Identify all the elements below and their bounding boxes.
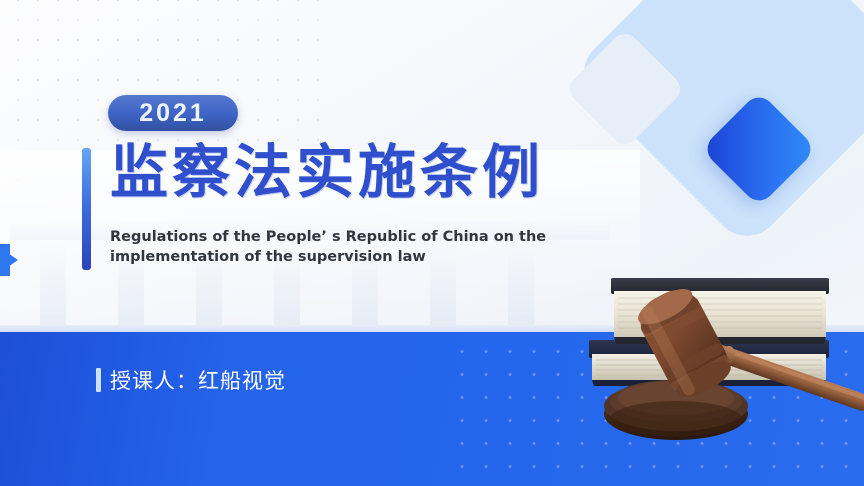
presenter-marker-icon xyxy=(96,368,101,392)
gavel-on-books-photo xyxy=(556,262,864,486)
presenter-text: 授课人：红船视觉 xyxy=(110,365,286,395)
title-slide: 2021 监察法实施条例 Regulations of the People’ … xyxy=(0,0,864,486)
arrow-right-icon xyxy=(0,238,18,282)
presenter-line: 授课人：红船视觉 xyxy=(96,365,286,395)
page-title: 监察法实施条例 xyxy=(110,143,544,201)
accent-bar-icon xyxy=(82,148,91,270)
year-badge: 2021 xyxy=(108,95,238,131)
